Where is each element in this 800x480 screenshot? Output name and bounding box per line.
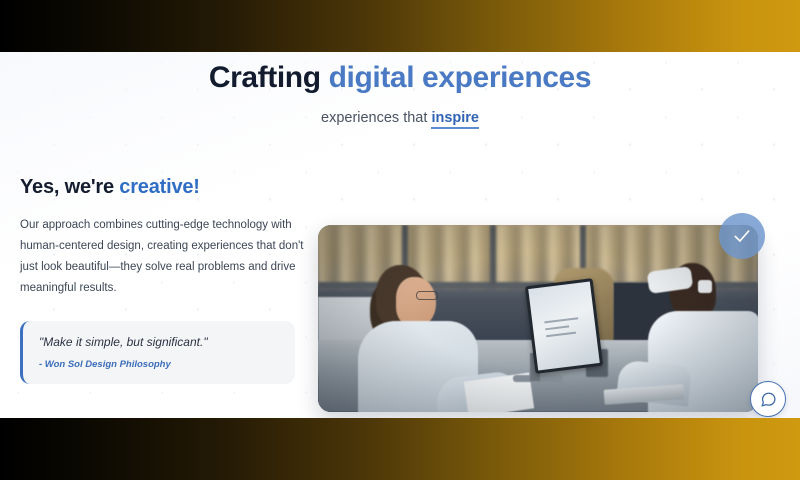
left-column: Yes, we're creative! Our approach combin… (20, 176, 310, 384)
page-title-accent: digital experiences (329, 61, 592, 94)
section-heading-lead: Yes, we're (20, 176, 119, 198)
office-photo (318, 225, 758, 412)
page-title: Crafting digital experiences (0, 60, 800, 96)
feature-image-card[interactable] (318, 225, 758, 412)
chat-button[interactable] (750, 381, 786, 417)
check-icon (732, 226, 752, 246)
quote-block: "Make it simple, but significant." - Won… (20, 321, 295, 385)
section-heading-accent: creative! (119, 176, 199, 198)
page-subtitle: experiences that inspire (0, 110, 800, 126)
page-subtitle-lead: experiences that (321, 110, 431, 126)
page-title-lead: Crafting (209, 61, 329, 94)
chat-bubble-icon (760, 391, 777, 408)
quote-author: - Won Sol Design Philosophy (39, 359, 279, 370)
content-panel: Crafting digital experiences experiences… (0, 52, 800, 418)
section-body-text: Our approach combines cutting-edge techn… (20, 215, 305, 299)
check-badge (719, 213, 765, 259)
hero-section: Crafting digital experiences experiences… (0, 60, 800, 126)
photo-vignette (318, 225, 758, 412)
quote-text: "Make it simple, but significant." (39, 334, 279, 351)
section-heading: Yes, we're creative! (20, 176, 310, 199)
inspire-link[interactable]: inspire (431, 110, 479, 129)
